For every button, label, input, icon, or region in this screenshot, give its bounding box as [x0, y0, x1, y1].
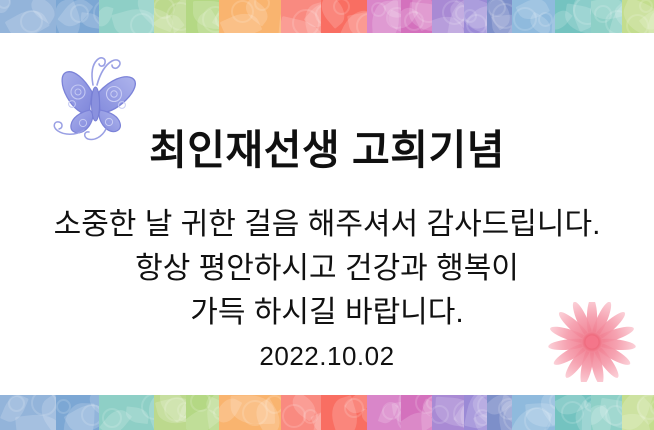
floral-motif — [130, 13, 154, 33]
stripe-orange — [219, 0, 282, 33]
top-border-band — [0, 0, 654, 33]
stripe-steel-blue — [56, 0, 99, 33]
stripe-green-2 — [622, 0, 654, 33]
floral-motif — [432, 405, 449, 424]
floral-motif — [415, 395, 431, 414]
floral-motif — [31, 395, 56, 416]
message-line: 가득 하시길 바랍니다. — [0, 291, 654, 335]
floral-motif — [164, 397, 186, 422]
stripe-blue — [0, 0, 56, 33]
stripe-pink-violet — [401, 395, 431, 430]
stripe-teal-2 — [555, 0, 591, 33]
stripe-magenta — [367, 395, 401, 430]
floral-motif — [102, 408, 122, 428]
floral-motif — [81, 404, 99, 426]
floral-motif — [626, 14, 649, 33]
floral-motif — [344, 398, 364, 418]
floral-motif — [442, 0, 464, 25]
floral-motif — [386, 7, 401, 29]
stripe-teal-3 — [591, 395, 621, 430]
floral-motif — [639, 0, 653, 13]
floral-motif — [474, 409, 487, 426]
stripe-teal-2 — [555, 395, 591, 430]
floral-motif — [605, 405, 621, 426]
stripe-teal-3 — [591, 0, 621, 33]
event-date: 2022.10.02 — [0, 341, 654, 372]
stripe-light-green — [154, 0, 186, 33]
floral-motif — [265, 395, 282, 414]
floral-motif — [70, 4, 89, 23]
stripe-teal — [99, 395, 155, 430]
floral-motif — [8, 395, 25, 412]
stripe-blue — [0, 395, 56, 430]
floral-motif — [333, 0, 350, 15]
stripe-orange — [219, 395, 282, 430]
greeting-card: 최인재선생 고희기념 소중한 날 귀한 걸음 해주셔서 감사드립니다. 항상 평… — [0, 0, 654, 430]
floral-motif — [498, 398, 512, 420]
floral-motif — [56, 399, 71, 414]
floral-motif — [242, 400, 268, 426]
stripe-light-green — [154, 395, 186, 430]
floral-motif — [99, 4, 114, 28]
bottom-border-band — [0, 395, 654, 430]
floral-motif — [20, 10, 43, 33]
stripe-sky-blue — [512, 395, 555, 430]
stripe-green — [186, 395, 218, 430]
card-content: 최인재선생 고희기념 소중한 날 귀한 걸음 해주셔서 감사드립니다. 항상 평… — [0, 33, 654, 395]
stripe-green-2 — [622, 395, 654, 430]
stripe-violet — [464, 395, 487, 430]
message-line: 소중한 날 귀한 걸음 해주셔서 감사드립니다. — [0, 203, 654, 247]
floral-motif — [0, 0, 11, 9]
stripe-steel-blue — [56, 395, 99, 430]
message-line: 항상 평안하시고 건강과 행복이 — [0, 247, 654, 291]
stripe-sky-blue — [512, 0, 555, 33]
floral-motif — [584, 396, 591, 412]
floral-motif — [231, 0, 254, 23]
page-title: 최인재선생 고희기념 — [0, 128, 654, 173]
stripe-green — [186, 0, 218, 33]
stripe-red — [321, 0, 368, 33]
stripe-purple — [432, 395, 464, 430]
message-body: 소중한 날 귀한 걸음 해주셔서 감사드립니다. 항상 평안하시고 건강과 행복… — [0, 203, 654, 335]
stripe-purple — [432, 0, 464, 33]
stripe-teal — [99, 0, 155, 33]
stripe-magenta — [367, 0, 401, 33]
floral-motif — [524, 407, 551, 430]
stripe-indigo — [487, 0, 512, 33]
stripe-violet — [464, 0, 487, 33]
stripe-coral — [281, 395, 320, 430]
stripe-red — [321, 395, 368, 430]
floral-motif — [282, 404, 306, 428]
stripe-indigo — [487, 395, 512, 430]
stripe-pink-violet — [401, 0, 431, 33]
stripe-coral — [281, 0, 320, 33]
